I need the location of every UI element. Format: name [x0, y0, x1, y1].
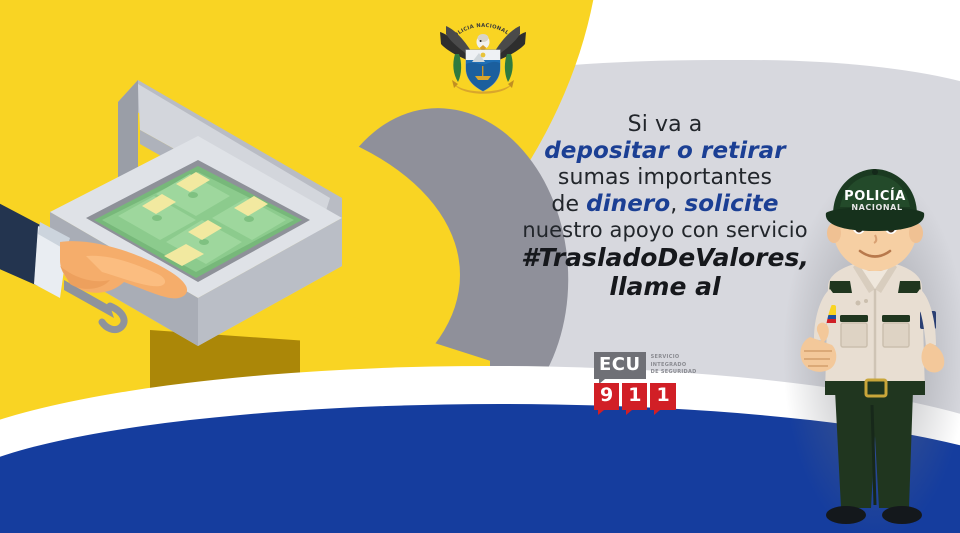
message-accent-solicite: solicite — [684, 191, 778, 217]
safe-with-money-illustration — [0, 70, 350, 400]
ecu-tagline-line-3: DE SEGURIDAD — [651, 369, 697, 377]
ecu-brand-bubble: ECU — [594, 352, 646, 379]
police-officer-character: POLICÍA NACIONAL — [780, 155, 960, 533]
ecu-digit-9: 9 — [594, 383, 619, 410]
ecu-digits-group: 9 1 1 — [594, 383, 706, 410]
ecu-digit-1-second: 1 — [650, 383, 675, 410]
cap-text-line-2: NACIONAL — [851, 203, 902, 212]
message-line-4-separator: , — [670, 192, 684, 217]
message-line-4-prefix: de — [551, 192, 586, 217]
poster-canvas: POLICIA NACIONAL DEL ECUADOR — [0, 0, 960, 533]
ecu-tagline-line-1: SERVICIO — [651, 354, 697, 362]
ecu-tagline: SERVICIO INTEGRADO DE SEGURIDAD — [651, 354, 697, 377]
cap-text-line-1: POLICÍA — [844, 188, 906, 204]
police-emblem-icon: POLICIA NACIONAL DEL ECUADOR — [428, 2, 538, 102]
message-line-1: Si va a — [470, 112, 860, 138]
ecu911-logo: ECU SERVICIO INTEGRADO DE SEGURIDAD 9 1 … — [594, 352, 706, 404]
ecu-digit-1-first: 1 — [622, 383, 647, 410]
message-line-2-accent: depositar o retirar — [544, 138, 786, 164]
ecu-tagline-line-2: INTEGRADO — [651, 362, 697, 370]
message-accent-dinero: dinero — [586, 191, 670, 217]
